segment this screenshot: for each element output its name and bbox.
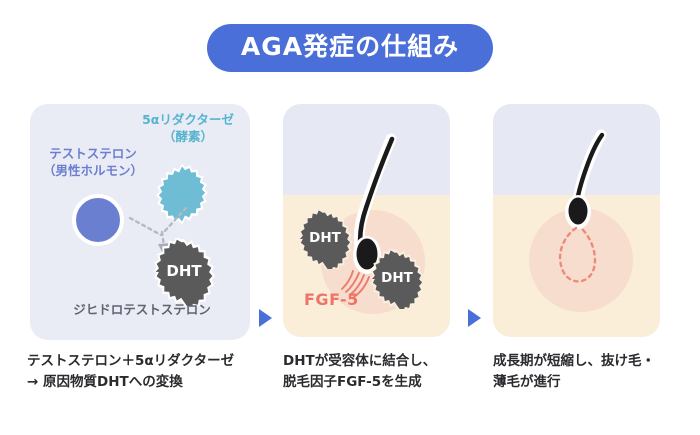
- caption-conversion: テストステロン＋5αリダクターゼ → 原因物質DHTへの変換: [27, 351, 267, 393]
- dht-molecule-icon: DHT: [150, 238, 218, 310]
- caption-2-line1: DHTが受容体に結合し、: [283, 351, 483, 372]
- caption-1-line2: → 原因物質DHTへの変換: [27, 372, 267, 393]
- step-arrow-2-icon: [468, 309, 481, 327]
- panel-miniaturization: [493, 104, 660, 337]
- page-title: AGA発症の仕組み: [207, 24, 493, 72]
- panel-binding: DHT DHT FGF-5: [283, 104, 450, 337]
- dht-fullname-label: ジヒドロテストステロン: [52, 302, 232, 319]
- diagram-panels: テストステロン （男性ホルモン） 5αリダクターゼ （酵素）: [0, 104, 700, 344]
- dht-molecule-icon-right: DHT: [367, 249, 427, 313]
- fgf5-label: FGF-5: [304, 290, 359, 309]
- caption-1-line1: テストステロン＋5αリダクターゼ: [27, 351, 267, 372]
- shrunken-hair-follicle-icon: [493, 104, 660, 337]
- caption-3-line1: 成長期が短縮し、抜け毛・: [493, 351, 693, 372]
- panel-conversion: テストステロン （男性ホルモン） 5αリダクターゼ （酵素）: [30, 104, 250, 340]
- caption-2-line2: 脱毛因子FGF-5を生成: [283, 372, 483, 393]
- caption-binding: DHTが受容体に結合し、 脱毛因子FGF-5を生成: [283, 351, 483, 393]
- caption-miniaturization: 成長期が短縮し、抜け毛・ 薄毛が進行: [493, 351, 693, 393]
- dht-molecule-icon-left: DHT: [295, 209, 355, 273]
- step-arrow-1-icon: [259, 309, 272, 327]
- title-bar: AGA発症の仕組み: [0, 24, 700, 72]
- caption-3-line2: 薄毛が進行: [493, 372, 693, 393]
